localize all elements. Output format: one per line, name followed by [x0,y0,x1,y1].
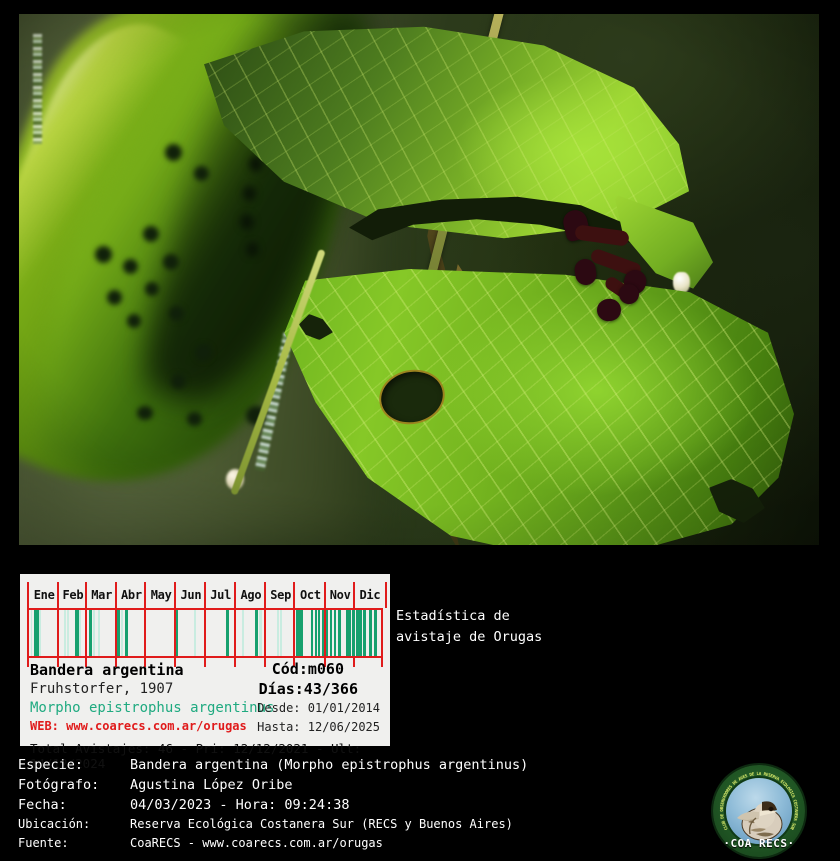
month-label-feb: Feb [57,582,86,608]
metadata-row: Fecha:04/03/2023 - Hora: 09:24:38 [18,797,718,817]
sighting-day-tick [326,610,328,656]
sighting-day-tick [31,610,33,656]
photo-vignette [19,14,819,545]
metadata-row: Fotógrafo:Agustina López Oribe [18,777,718,797]
sighting-day-tick [67,610,69,656]
month-label-jun: Jun [174,582,205,608]
duck-bird-icon [726,778,792,844]
sighting-day-tick [363,610,365,656]
month-divider [234,610,236,656]
metadata-value: 04/03/2023 - Hora: 09:24:38 [130,797,349,813]
sighting-day-tick [334,610,336,656]
statistics-caption-line1: Estadística de [396,606,646,627]
month-divider [204,610,206,656]
sighting-day-tick [93,610,95,656]
metadata-label: Especie: [18,757,83,773]
metadata-value: CoaRECS - www.coarecs.com.ar/orugas [130,836,383,850]
month-label-dic: Dic [353,582,387,608]
sighting-day-tick [315,610,317,656]
photo-metadata-block: Especie:Bandera argentina (Morpho epistr… [18,757,718,855]
metadata-label: Fecha: [18,797,67,813]
sighting-day-tick [369,610,372,656]
sighting-day-tick [352,610,355,656]
month-label-ago: Ago [234,582,266,608]
sighting-day-tick [330,610,332,656]
species-author-year: Fruhstorfer, 1907 [30,681,173,697]
month-divider-end [381,658,383,667]
range-to-label: Hasta: 12/06/2025 [257,720,380,734]
sighting-day-tick [242,610,244,656]
metadata-value: Reserva Ecológica Costanera Sur (RECS y … [130,817,513,831]
sighting-day-tick [79,610,81,656]
sighting-day-tick [125,610,129,656]
species-web-link[interactable]: WEB: www.coarecs.com.ar/orugas [30,719,247,733]
metadata-value: Agustina López Oribe [130,777,293,793]
month-label-nov: Nov [324,582,355,608]
sighting-day-tick [322,610,324,656]
sighting-day-tick [338,610,340,656]
month-label-may: May [144,582,176,608]
month-divider [57,610,59,656]
month-label-jul: Jul [204,582,236,608]
statistics-caption-line2: avistaje de Orugas [396,627,646,648]
sighting-day-tick [39,610,41,656]
calendar-chart: EneFebMarAbrMayJunJulAgoSepOctNovDic [27,582,383,657]
species-photograph [19,14,819,545]
sighting-day-tick [255,610,258,656]
species-code: Cód:m060 [272,660,344,678]
species-common-name: Bandera argentina [30,661,184,679]
metadata-row: Ubicación:Reserva Ecológica Costanera Su… [18,817,718,836]
sighting-day-tick [318,610,320,656]
sighting-statistics-panel: EneFebMarAbrMayJunJulAgoSepOctNovDic Ban… [20,574,390,746]
sighting-day-tick [296,610,303,656]
month-divider-end [381,610,383,656]
sighting-day-tick [226,610,228,656]
species-scientific-name: Morpho epistrophus argentinus [30,700,274,716]
logo-name-text: ·COA RECS· [713,837,805,850]
sighting-day-tick [89,610,93,656]
sighting-day-tick [64,610,66,656]
month-stub [27,658,29,667]
sighting-day-tick [374,610,376,656]
month-divider [144,610,146,656]
species-info-block: Bandera argentina Cód:m060 Fruhstorfer, … [30,661,380,771]
month-label-oct: Oct [293,582,325,608]
metadata-row: Fuente:CoaRECS - www.coarecs.com.ar/orug… [18,836,718,855]
month-label-sep: Sep [264,582,295,608]
month-divider [85,610,87,656]
coa-recs-logo[interactable]: CLUB DE OBSERVADORES DE AVES DE LA RESER… [713,765,805,857]
metadata-value: Bandera argentina (Morpho epistrophus ar… [130,757,528,773]
sighting-day-tick [280,610,282,656]
species-days-count: Días:43/366 [259,680,358,698]
sighting-day-tick [121,610,123,656]
sighting-day-tick [277,610,279,656]
month-divider [27,610,29,656]
month-label-mar: Mar [85,582,117,608]
statistics-caption: Estadística de avistaje de Orugas [396,606,646,648]
metadata-label: Ubicación: [18,817,90,831]
month-label-ene: Ene [27,582,59,608]
metadata-row: Especie:Bandera argentina (Morpho epistr… [18,757,718,777]
month-header-row: EneFebMarAbrMayJunJulAgoSepOctNovDic [27,582,383,608]
sighting-day-tick [259,610,261,656]
sighting-day-tick [117,610,120,656]
metadata-label: Fotógrafo: [18,777,99,793]
logo-inner-disc [726,778,792,844]
month-label-abr: Abr [115,582,146,608]
sighting-day-tick [311,610,313,656]
month-divider [264,610,266,656]
sighting-day-tick [356,610,362,656]
sighting-day-tick [98,610,100,656]
metadata-label: Fuente: [18,836,69,850]
sighting-day-tick [346,610,351,656]
range-from-label: Desde: 01/01/2014 [257,701,380,715]
sighting-day-track [27,608,383,658]
sighting-day-tick [176,610,178,656]
sighting-day-tick [194,610,196,656]
